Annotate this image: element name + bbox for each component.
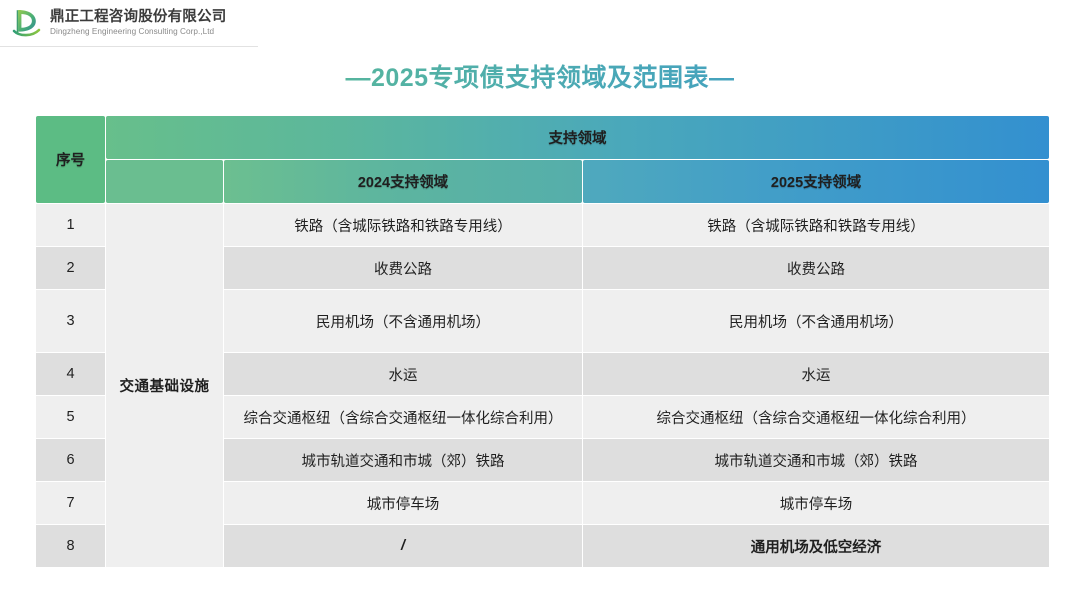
dingzheng-d-logo-icon [12,7,42,39]
category-transport-infrastructure: 交通基础设施 [106,204,223,567]
company-name-cn: 鼎正工程咨询股份有限公司 [50,9,226,26]
row-number: 6 [36,439,105,481]
table-header-row-1: 序号 支持领域 [36,116,1049,159]
table-row: 1 交通基础设施 铁路（含城际铁路和铁路专用线） 铁路（含城际铁路和铁路专用线） [36,204,1049,246]
cell-2025: 铁路（含城际铁路和铁路专用线） [583,204,1049,246]
cell-2025: 综合交通枢纽（含综合交通枢纽一体化综合利用） [583,396,1049,438]
cell-2025: 收费公路 [583,247,1049,289]
cell-2025: 民用机场（不含通用机场） [583,290,1049,352]
row-number: 1 [36,204,105,246]
row-number: 4 [36,353,105,395]
cell-2024: / [224,525,582,567]
company-name-en: Dingzheng Engineering Consulting Corp.,L… [50,26,226,37]
page-root: 鼎正工程咨询股份有限公司 Dingzheng Engineering Consu… [0,0,1080,607]
row-number: 7 [36,482,105,524]
row-number: 5 [36,396,105,438]
cell-2024: 城市轨道交通和市城（郊）铁路 [224,439,582,481]
cell-2025-highlight: 通用机场及低空经济 [583,525,1049,567]
brand-header: 鼎正工程咨询股份有限公司 Dingzheng Engineering Consu… [0,0,258,47]
support-scope-table: 序号 支持领域 2024支持领域 2025支持领域 1 交通基础设施 铁路（含城… [35,115,1050,568]
cell-2025: 城市停车场 [583,482,1049,524]
support-scope-table-wrapper: 序号 支持领域 2024支持领域 2025支持领域 1 交通基础设施 铁路（含城… [35,115,1048,568]
header-group-support-scope: 支持领域 [106,116,1049,159]
brand-text-block: 鼎正工程咨询股份有限公司 Dingzheng Engineering Consu… [50,9,226,37]
table-header-row-2: 2024支持领域 2025支持领域 [36,160,1049,203]
cell-2024: 综合交通枢纽（含综合交通枢纽一体化综合利用） [224,396,582,438]
cell-2025: 水运 [583,353,1049,395]
header-seq: 序号 [36,116,105,203]
header-category-blank [106,160,223,203]
header-col-2024: 2024支持领域 [224,160,582,203]
cell-2024: 民用机场（不含通用机场） [224,290,582,352]
cell-2024: 铁路（含城际铁路和铁路专用线） [224,204,582,246]
row-number: 2 [36,247,105,289]
row-number: 3 [36,290,105,352]
cell-2024: 收费公路 [224,247,582,289]
row-number: 8 [36,525,105,567]
cell-2024: 城市停车场 [224,482,582,524]
page-title: —2025专项债支持领域及范围表— [0,58,1080,94]
header-col-2025: 2025支持领域 [583,160,1049,203]
cell-2025: 城市轨道交通和市城（郊）铁路 [583,439,1049,481]
cell-2024: 水运 [224,353,582,395]
